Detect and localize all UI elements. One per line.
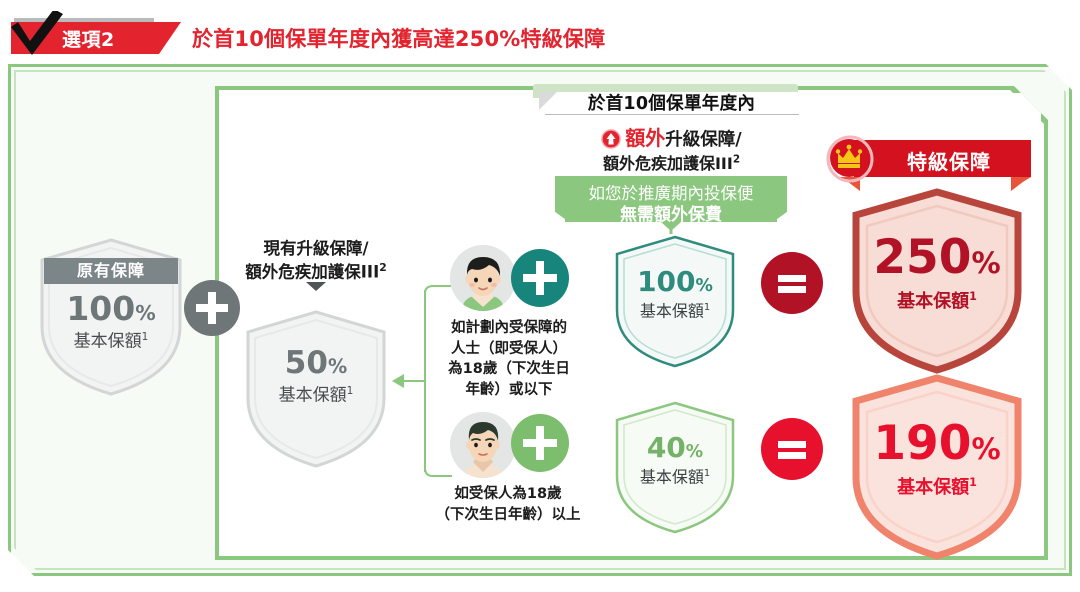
shield-original-coverage: 原有保障 100% 基本保額1 bbox=[36, 234, 186, 399]
shield-child-extra-sub-text: 基本保額 bbox=[640, 301, 704, 320]
check-mark-icon bbox=[8, 11, 68, 57]
shield-adult-extra-values: 40% 基本保額1 bbox=[612, 434, 738, 485]
shield-child-extra-values: 100% 基本保額1 bbox=[612, 268, 738, 319]
header-tag-arrow bbox=[159, 22, 181, 54]
child-branch-line-1: 如計劃內受保障的 bbox=[414, 318, 604, 339]
equals-icon-top bbox=[761, 252, 823, 314]
shield-adult-extra-sub: 基本保額1 bbox=[612, 469, 738, 485]
shield-adult-extra-sup: 1 bbox=[704, 468, 710, 479]
shield-total-adult-unit: % bbox=[971, 432, 1000, 466]
caret-down-icon bbox=[306, 282, 326, 291]
callout-extra-line: 額外升級保障/ bbox=[539, 122, 804, 151]
shield-total-adult: 190% 基本保額1 bbox=[849, 372, 1025, 562]
header-option-label: 選項2 bbox=[62, 25, 115, 52]
shield-existing-upgrade: 現有升級保障/ 額外危疾加護保III2 50% 基本保額1 bbox=[242, 306, 390, 471]
adult-branch-line-1: 如受保人為18歲 bbox=[408, 484, 608, 505]
shield-original-unit: % bbox=[135, 301, 155, 325]
shield-child-extra-sub: 基本保額1 bbox=[612, 303, 738, 319]
equals-icon bbox=[761, 418, 823, 480]
plus-icon-child bbox=[511, 249, 569, 307]
child-branch-description: 如計劃內受保障的 人士（即受保人） 為18歲（下次生日 年齡）或以下 bbox=[414, 318, 604, 400]
shield-original-number: 100 bbox=[66, 289, 135, 328]
shield-total-child-number: 250 bbox=[873, 230, 971, 285]
callout-product-name: 額外危疾加護保III bbox=[603, 154, 733, 173]
child-avatar bbox=[450, 245, 516, 311]
child-branch-line-4: 年齡）或以下 bbox=[414, 380, 604, 401]
shield-total-child-percent: 250% bbox=[849, 234, 1025, 281]
plus-icon bbox=[511, 249, 569, 307]
top-callout: 於首10個保單年度內 額外升級保障/ 額外危疾加護保III2 如您於推廣期內投保… bbox=[533, 84, 810, 222]
adult-avatar-icon bbox=[450, 412, 516, 478]
shield-adult-extra-percent: 40% bbox=[612, 434, 738, 462]
shield-original-percent: 100% bbox=[36, 292, 186, 325]
plus-icon bbox=[511, 414, 569, 472]
shield-original-values: 100% 基本保額1 bbox=[36, 292, 186, 351]
adult-avatar bbox=[450, 412, 516, 478]
callout-extra-rest: 升級保障/ bbox=[665, 130, 741, 150]
shield-total-adult-sub-text: 基本保額 bbox=[897, 477, 969, 498]
shield-adult-extra-number: 40 bbox=[647, 431, 686, 464]
page-header: 選項2 於首10個保單年度內獲高達250%特級保障 bbox=[0, 14, 1080, 54]
up-arrow-badge-icon bbox=[601, 129, 621, 149]
callout-extra-emphasis: 額外 bbox=[625, 126, 665, 150]
equals-icon bbox=[761, 252, 823, 314]
shield-total-adult-number: 190 bbox=[873, 416, 971, 471]
callout-period-text: 於首10個保單年度內 bbox=[539, 90, 804, 115]
child-branch-line-3: 為18歲（下次生日 bbox=[414, 359, 604, 380]
shield-total-child-unit: % bbox=[971, 246, 1000, 280]
shield-child-extra-unit: % bbox=[696, 276, 713, 296]
shield-total-child-sub: 基本保額1 bbox=[849, 291, 1025, 311]
shield-total-child-values: 250% 基本保額1 bbox=[849, 234, 1025, 311]
plus-icon-left bbox=[184, 280, 240, 336]
premium-ribbon: 特級保障 bbox=[826, 140, 1031, 192]
promo-ribbon: 如您於推廣期內投保便 無需額外保費 bbox=[555, 176, 787, 222]
shield-existing-values: 50% 基本保額1 bbox=[242, 348, 390, 405]
callout-divider bbox=[545, 114, 799, 115]
shield-original-sub: 基本保額1 bbox=[36, 332, 186, 351]
plus-icon-adult bbox=[511, 414, 569, 472]
shield-total-adult-sup: 1 bbox=[969, 476, 977, 489]
shield-existing-percent: 50% bbox=[242, 348, 390, 379]
callout-product-line: 額外危疾加護保III2 bbox=[539, 150, 804, 174]
child-branch-line-2: 人士（即受保人） bbox=[414, 339, 604, 360]
callout-product-sup: 2 bbox=[733, 154, 740, 166]
child-avatar-icon bbox=[450, 245, 516, 311]
shield-original-sub-text: 基本保額 bbox=[74, 332, 142, 352]
shield-existing-upgrade-label: 現有升級保障/ 額外危疾加護保III2 bbox=[212, 238, 420, 284]
shield-adult-extra: 40% 基本保額1 bbox=[612, 398, 738, 536]
premium-ribbon-label: 特級保障 bbox=[874, 146, 1024, 175]
adult-branch-description: 如受保人為18歲 （下次生日年齡）以上 bbox=[408, 484, 608, 525]
shield-total-adult-values: 190% 基本保額1 bbox=[849, 420, 1025, 497]
shield-adult-extra-unit: % bbox=[686, 442, 703, 462]
shield-original-sup: 1 bbox=[142, 331, 149, 343]
infographic-stage: 選項2 於首10個保單年度內獲高達250%特級保障 於首10個保單年度內 bbox=[0, 0, 1080, 592]
shield-original-banner: 原有保障 bbox=[44, 258, 178, 284]
shield-child-extra-number: 100 bbox=[637, 265, 695, 298]
shield-total-child-sup: 1 bbox=[969, 290, 977, 303]
shield-total-adult-percent: 190% bbox=[849, 420, 1025, 467]
shield-existing-label-1: 現有升級保障/ bbox=[263, 239, 368, 258]
equals-icon-bottom bbox=[761, 418, 823, 480]
adult-branch-line-2: （下次生日年齡）以上 bbox=[408, 505, 608, 526]
shield-existing-label-sup: 2 bbox=[379, 261, 386, 274]
plus-icon bbox=[184, 280, 240, 336]
shield-total-adult-sub: 基本保額1 bbox=[849, 477, 1025, 497]
shield-child-extra-sup: 1 bbox=[704, 302, 710, 313]
shield-adult-extra-sub-text: 基本保額 bbox=[640, 467, 704, 486]
shield-existing-sub: 基本保額1 bbox=[242, 386, 390, 405]
shield-child-extra: 100% 基本保額1 bbox=[612, 232, 738, 370]
ribbon-notch bbox=[661, 222, 681, 231]
page-title: 於首10個保單年度內獲高達250%特級保障 bbox=[192, 23, 605, 53]
shield-existing-number: 50 bbox=[285, 345, 328, 381]
shield-existing-sup: 1 bbox=[347, 385, 354, 397]
shield-existing-unit: % bbox=[328, 355, 347, 378]
crown-badge-icon bbox=[826, 135, 876, 185]
shield-total-child: 250% 基本保額1 bbox=[849, 186, 1025, 376]
shield-existing-sub-text: 基本保額 bbox=[279, 386, 347, 406]
shield-child-extra-percent: 100% bbox=[612, 268, 738, 296]
shield-existing-label-2: 額外危疾加護保III bbox=[245, 262, 379, 281]
shield-total-child-sub-text: 基本保額 bbox=[897, 291, 969, 312]
